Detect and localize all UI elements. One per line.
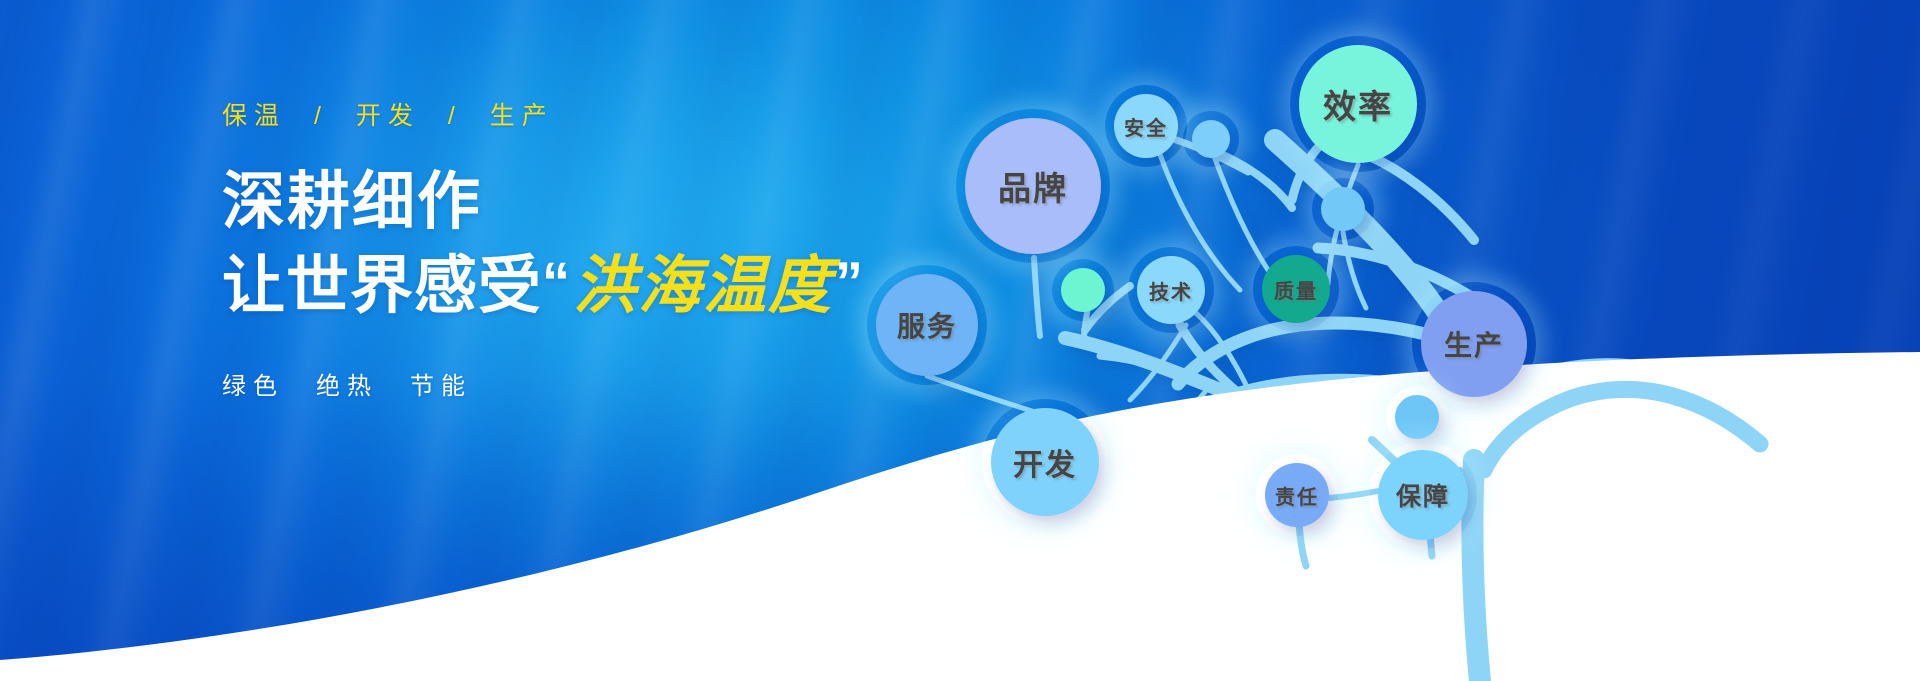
sub-tagline-gap-1 — [378, 373, 410, 400]
keyword-bubble-label: 效率 — [1323, 80, 1393, 128]
keyword-bubble-label: 开发 — [1013, 440, 1077, 484]
eyebrow-item-2: 生产 — [490, 102, 554, 130]
quote-open-mark: “ — [542, 250, 571, 313]
keyword-bubble-label: 安全 — [1124, 112, 1168, 141]
eyebrow-item-1: 开发 — [356, 102, 420, 130]
keyword-bubble-品牌[interactable]: 品牌 — [965, 118, 1101, 254]
decorative-bubble-10 — [1395, 395, 1439, 439]
sub-tagline: 绿色绝热节能 — [222, 366, 1102, 401]
decorative-bubble-4 — [1321, 187, 1365, 231]
sub-tagline-item-0: 绿色 — [222, 373, 284, 400]
keyword-bubble-label: 生产 — [1444, 324, 1504, 364]
keyword-bubble-开发[interactable]: 开发 — [991, 408, 1099, 516]
keyword-bubble-label: 技术 — [1149, 276, 1193, 305]
quote-close-mark: ” — [835, 250, 864, 313]
headline-secondary-prefix: 让世界感受 — [222, 251, 542, 321]
decorative-bubble-2 — [1192, 120, 1230, 158]
keyword-bubble-生产[interactable]: 生产 — [1421, 291, 1527, 397]
sub-tagline-gap-0 — [284, 373, 316, 400]
eyebrow-tagline: 保温 / 开发 / 生产 — [222, 96, 1102, 132]
hero-banner: 保温 / 开发 / 生产 深耕细作 让世界感受“洪海温度” 绿色绝热节能 品牌安… — [0, 0, 1920, 681]
sub-tagline-item-1: 绝热 — [316, 373, 378, 400]
keyword-bubble-质量[interactable]: 质量 — [1262, 255, 1330, 323]
keyword-bubble-label: 质量 — [1274, 275, 1318, 304]
keyword-bubble-label: 责任 — [1275, 481, 1319, 510]
keyword-bubble-label: 保障 — [1396, 477, 1450, 513]
headline-accent-text: 洪海温度 — [571, 251, 835, 321]
decorative-bubble-6 — [1061, 268, 1105, 312]
hero-copy: 保温 / 开发 / 生产 深耕细作 让世界感受“洪海温度” 绿色绝热节能 — [222, 96, 1102, 401]
keyword-bubble-label: 服务 — [897, 305, 957, 345]
keyword-bubble-保障[interactable]: 保障 — [1378, 450, 1468, 540]
eyebrow-separator-0: / — [300, 102, 342, 130]
eyebrow-separator-1: / — [434, 102, 476, 130]
sub-tagline-item-2: 节能 — [410, 373, 472, 400]
keyword-bubble-效率[interactable]: 效率 — [1299, 45, 1417, 163]
keyword-bubble-服务[interactable]: 服务 — [876, 274, 978, 376]
keyword-bubble-label: 品牌 — [998, 162, 1068, 210]
keyword-bubble-安全[interactable]: 安全 — [1114, 94, 1178, 158]
eyebrow-item-0: 保温 — [222, 102, 286, 130]
keyword-bubble-责任[interactable]: 责任 — [1265, 463, 1329, 527]
keyword-bubble-技术[interactable]: 技术 — [1137, 256, 1205, 324]
